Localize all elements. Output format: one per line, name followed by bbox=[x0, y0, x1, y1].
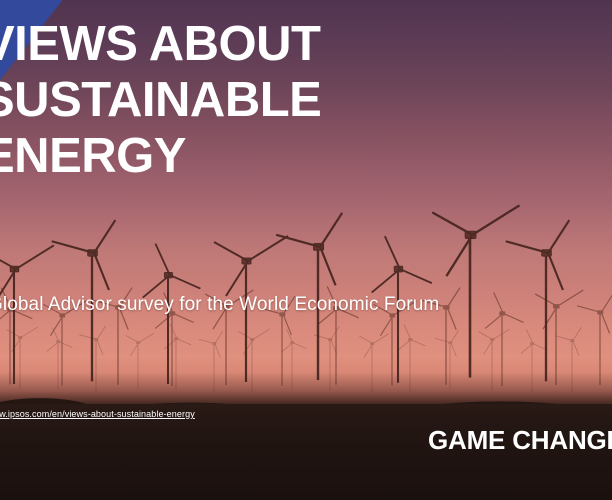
page-title: VIEWS ABOUT SUSTAINABLE ENERGY bbox=[0, 16, 402, 184]
source-url-link[interactable]: www.ipsos.com/en/views-about-sustainable… bbox=[0, 409, 195, 419]
title-line-2: SUSTAINABLE bbox=[0, 72, 402, 128]
title-line-1: VIEWS ABOUT bbox=[0, 16, 402, 72]
game-changers-tagline: GAME CHANGERS bbox=[428, 425, 612, 456]
subtitle: Global Advisor survey for the World Econ… bbox=[0, 294, 439, 316]
presentation-title-slide: VIEWS ABOUT SUSTAINABLE ENERGY Global Ad… bbox=[0, 0, 612, 500]
title-line-3: ENERGY bbox=[0, 128, 402, 184]
